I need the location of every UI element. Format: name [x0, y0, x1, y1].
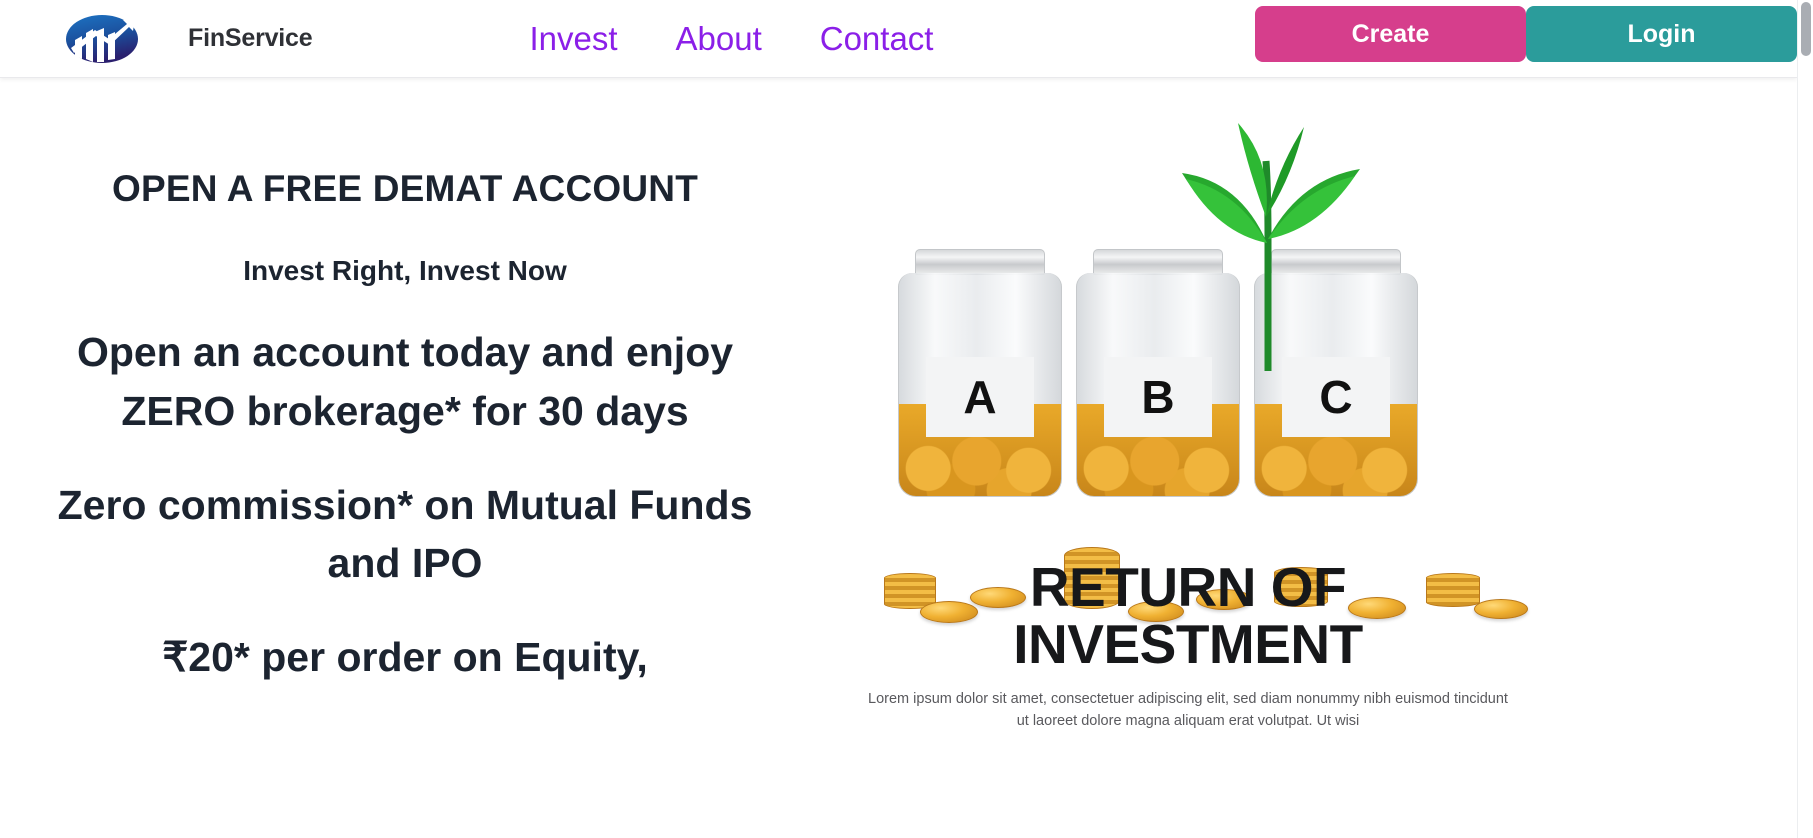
roi-heading-line1: RETURN OF: [848, 559, 1528, 616]
hero-point-1: Open an account today and enjoy ZERO bro…: [0, 323, 810, 439]
roi-caption: Lorem ipsum dolor sit amet, consectetuer…: [868, 689, 1508, 733]
nav-action-buttons: Create Login: [1255, 6, 1797, 62]
jar-neck: [915, 249, 1045, 275]
hero-point-2: Zero commission* on Mutual Funds and IPO: [0, 476, 810, 592]
nav-link-invest[interactable]: Invest: [500, 22, 646, 55]
hero-subtitle: Invest Right, Invest Now: [0, 255, 810, 287]
brand-name: FinService: [188, 24, 312, 53]
top-navigation-bar: FinService Invest About Contact Create L…: [0, 0, 1797, 78]
return-of-investment-graphic: A B C: [848, 119, 1528, 819]
brand-block[interactable]: FinService: [0, 0, 312, 77]
hero-image-column: A B C: [810, 79, 1797, 838]
page-scrollbar-track[interactable]: [1797, 0, 1813, 838]
nav-links: Invest About Contact: [500, 22, 962, 55]
nav-link-about[interactable]: About: [647, 22, 791, 55]
jar-a: A: [898, 249, 1062, 497]
nav-link-contact[interactable]: Contact: [791, 22, 963, 55]
roi-heading-line2: INVESTMENT: [848, 616, 1528, 673]
hero-section: OPEN A FREE DEMAT ACCOUNT Invest Right, …: [0, 79, 1797, 838]
hero-point-3: ₹20* per order on Equity,: [0, 628, 810, 686]
roi-heading: RETURN OF INVESTMENT: [848, 559, 1528, 672]
hero-text-column: OPEN A FREE DEMAT ACCOUNT Invest Right, …: [0, 79, 810, 838]
login-button[interactable]: Login: [1526, 6, 1797, 62]
page-scrollbar-thumb[interactable]: [1801, 2, 1811, 56]
jar-label-a: A: [926, 357, 1034, 437]
hero-title: OPEN A FREE DEMAT ACCOUNT: [0, 167, 810, 211]
growth-chart-logo-icon[interactable]: [56, 14, 148, 64]
create-button[interactable]: Create: [1255, 6, 1526, 62]
plant-sprout-icon: [1156, 121, 1386, 371]
page-root: FinService Invest About Contact Create L…: [0, 0, 1813, 838]
logo-svg: [65, 14, 139, 64]
